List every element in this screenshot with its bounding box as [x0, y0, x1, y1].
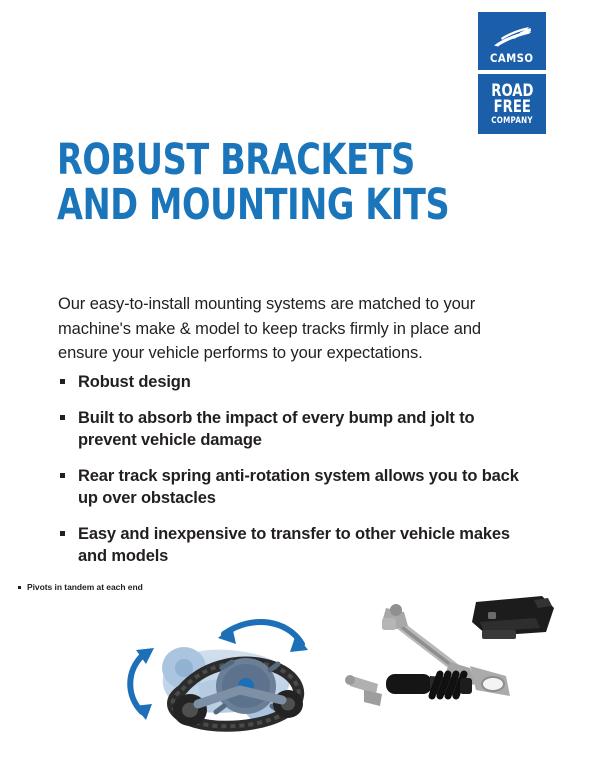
feature-text: Robust design [78, 373, 191, 391]
bullet-square-icon [60, 473, 65, 478]
bullet-square-icon [60, 379, 65, 384]
list-item: Built to absorb the impact of every bump… [58, 407, 528, 452]
brand-logo-stack: CAMSO ROAD FREE COMPANY [478, 12, 546, 134]
list-item: Rear track spring anti-rotation system a… [58, 465, 528, 510]
headline-line-2: AND MOUNTING KITS [57, 183, 385, 228]
feature-text: Built to absorb the impact of every bump… [78, 409, 474, 450]
camso-wordmark: CAMSO [490, 53, 533, 65]
footnote-text: Pivots in tandem at each end [27, 582, 143, 592]
spring-damper [345, 674, 472, 706]
camso-swoosh-icon [491, 25, 533, 49]
feature-list: Robust design Built to absorb the impact… [58, 371, 528, 581]
road-free-line-2: FREE [493, 99, 530, 115]
pivot-arc-arrow-left [130, 648, 154, 720]
bullet-square-icon [18, 586, 21, 589]
intro-paragraph: Our easy-to-install mounting systems are… [58, 292, 528, 366]
list-item: Robust design [58, 371, 528, 394]
bullet-square-icon [60, 531, 65, 536]
pivot-arc-arrow-top [218, 622, 308, 652]
feature-text: Rear track spring anti-rotation system a… [78, 467, 519, 508]
feature-text: Easy and inexpensive to transfer to othe… [78, 525, 510, 566]
road-free-line-3: COMPANY [491, 117, 533, 126]
camso-logo: CAMSO [478, 12, 546, 70]
road-free-company-logo: ROAD FREE COMPANY [478, 74, 546, 134]
mounting-bracket [472, 596, 554, 639]
bullet-square-icon [60, 415, 65, 420]
mounting-hardware-photo [330, 592, 560, 727]
footnote: Pivots in tandem at each end [18, 582, 143, 592]
list-item: Easy and inexpensive to transfer to othe… [58, 523, 528, 568]
headline-line-1: ROBUST BRACKETS [57, 138, 385, 183]
rubber-track-system-illustration [112, 606, 332, 746]
page-title: ROBUST BRACKETS AND MOUNTING KITS [57, 138, 477, 228]
